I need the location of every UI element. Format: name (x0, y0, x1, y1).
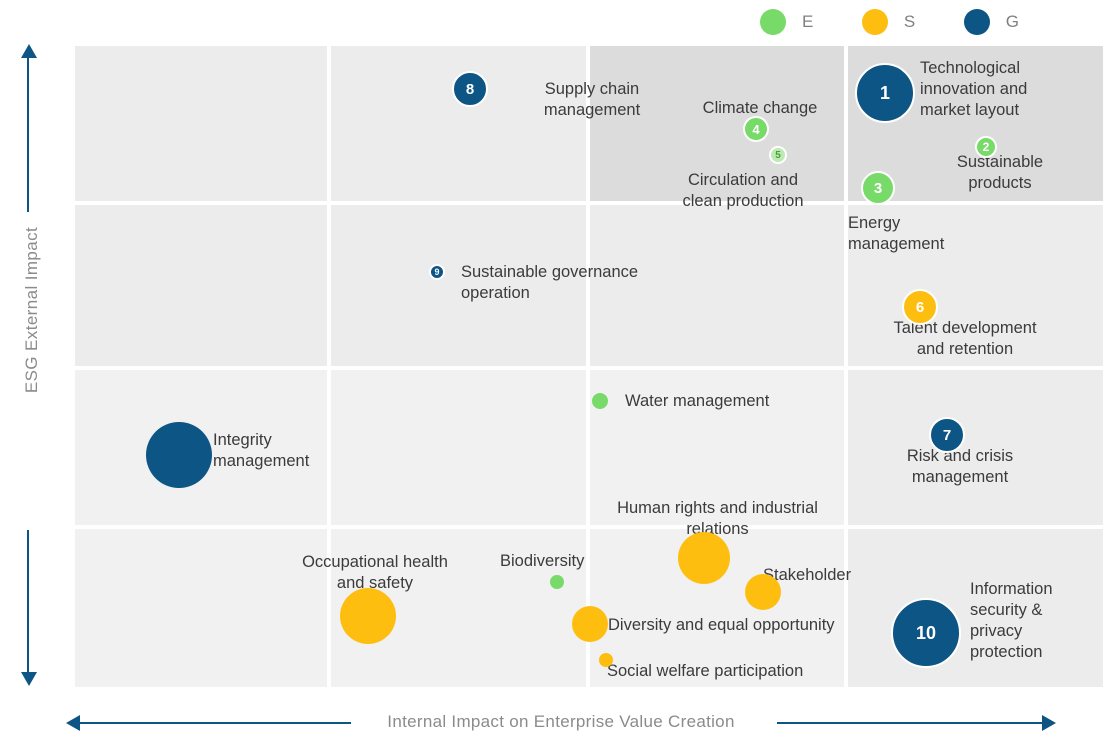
point-label-stakeholder: Stakeholder (763, 565, 883, 586)
bubble-number-6: 6 (916, 299, 924, 316)
legend-dot-g-icon (964, 9, 990, 35)
bubble-number-2: 2 (983, 140, 990, 154)
bubble-point-3[interactable]: 3 (861, 171, 895, 205)
legend-label-g: G (1006, 12, 1020, 32)
grid-cell-r1c2 (331, 46, 586, 201)
bubble-point-water-management[interactable] (592, 393, 608, 409)
bubble-point-human-rights[interactable] (678, 532, 730, 584)
x-axis-arrow-right-icon (1042, 715, 1056, 731)
y-axis-line-upper (27, 56, 29, 212)
point-label-human-rights: Human rights and industrial relations (575, 498, 860, 540)
point-label-water-management: Water management (625, 391, 825, 412)
point-label-diversity-equal-opportunity: Diversity and equal opportunity (608, 615, 878, 636)
bubble-number-4: 4 (752, 122, 759, 137)
point-label-information-security: Information security & privacy protectio… (970, 579, 1109, 663)
bubble-point-2[interactable]: 2 (975, 136, 997, 158)
point-label-sustainable-governance: Sustainable governance operation (461, 262, 691, 304)
point-label-sustainable-products: Sustainable products (930, 152, 1070, 194)
legend: E S G (760, 2, 1100, 42)
bubble-point-occupational-health[interactable] (340, 588, 396, 644)
legend-dot-s-icon (862, 9, 888, 35)
bubble-number-8: 8 (466, 81, 474, 98)
legend-item-e: E (760, 9, 814, 35)
y-axis-arrow-up-icon (21, 44, 37, 58)
y-axis-arrow-down-icon (21, 672, 37, 686)
x-axis: Internal Impact on Enterprise Value Crea… (66, 712, 1056, 738)
point-label-social-welfare: Social welfare participation (607, 661, 857, 682)
bubble-point-7[interactable]: 7 (929, 417, 965, 453)
bubble-point-1[interactable]: 1 (855, 63, 915, 123)
bubble-point-6[interactable]: 6 (902, 289, 938, 325)
bubble-number-10: 10 (916, 623, 936, 644)
grid-cell-r3c2 (331, 370, 586, 525)
y-axis-label: ESG External Impact (22, 200, 42, 420)
grid-cell-r1c1 (75, 46, 327, 201)
legend-item-s: S (862, 9, 916, 35)
bubble-point-biodiversity[interactable] (550, 575, 564, 589)
point-label-circulation-clean-production: Circulation and clean production (653, 170, 833, 212)
point-label-technological-innovation: Technological innovation and market layo… (920, 58, 1100, 121)
bubble-point-9[interactable]: 9 (429, 264, 445, 280)
legend-item-g: G (964, 9, 1020, 35)
point-label-talent-development: Talent development and retention (870, 318, 1060, 360)
bubble-point-social-welfare[interactable] (599, 653, 613, 667)
point-label-occupational-health: Occupational health and safety (280, 552, 470, 594)
bubble-point-stakeholder[interactable] (745, 574, 781, 610)
point-label-integrity-management: Integrity management (213, 430, 353, 472)
bubble-point-8[interactable]: 8 (452, 71, 488, 107)
grid-cell-r2c1 (75, 205, 327, 366)
point-label-energy-management: Energy management (848, 213, 1018, 255)
bubble-point-integrity-management[interactable] (146, 422, 212, 488)
bubble-point-4[interactable]: 4 (743, 116, 769, 142)
point-label-risk-crisis-management: Risk and crisis management (875, 446, 1045, 488)
point-label-supply-chain-management: Supply chain management (507, 79, 677, 121)
chart-plot-area: Supply chain management Climate change C… (75, 46, 1103, 687)
y-axis-line-lower (27, 530, 29, 672)
legend-label-e: E (802, 12, 814, 32)
point-label-biodiversity: Biodiversity (500, 551, 630, 572)
bubble-number-1: 1 (880, 83, 890, 104)
legend-dot-e-icon (760, 9, 786, 35)
bubble-number-7: 7 (943, 427, 951, 444)
x-axis-line-right (777, 722, 1043, 724)
bubble-number-9: 9 (434, 267, 439, 277)
bubble-point-diversity-equal-opportunity[interactable] (572, 606, 608, 642)
bubble-point-5[interactable]: 5 (769, 146, 787, 164)
bubble-point-10[interactable]: 10 (891, 598, 961, 668)
bubble-number-5: 5 (775, 150, 781, 161)
legend-label-s: S (904, 12, 916, 32)
bubble-number-3: 3 (874, 180, 882, 197)
